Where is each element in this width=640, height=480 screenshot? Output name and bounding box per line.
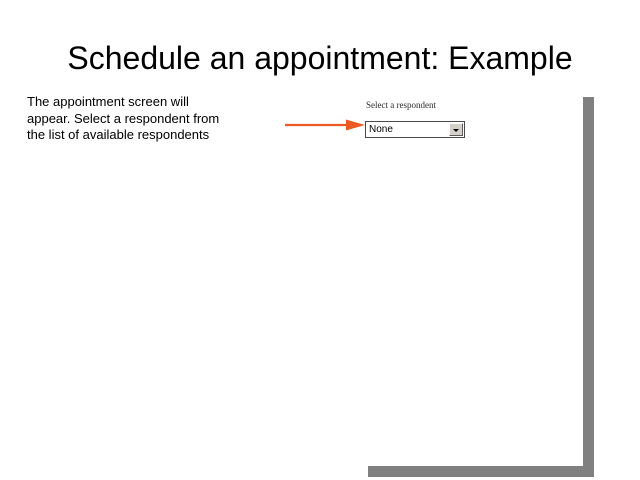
respondent-dropdown-value: None [366,122,449,137]
caption-line: the list of available respondents [27,127,257,144]
annotation-arrow-icon [284,117,366,133]
annotation-arrow-head [346,120,365,131]
caption-line: The appointment screen will [27,94,257,111]
chevron-down-icon[interactable] [449,123,463,136]
embedded-app-screenshot [356,90,583,466]
page-title: Schedule an appointment: Example [0,39,640,77]
respondent-field-label: Select a respondent [366,100,436,111]
caption-line: appear. Select a respondent from [27,111,257,128]
chevron-down-glyph [453,129,459,132]
screenshot-shadow-bottom [368,466,594,477]
respondent-dropdown[interactable]: None [365,121,465,138]
screenshot-shadow-right [583,97,594,476]
slide-canvas: Schedule an appointment: Example The app… [0,0,640,480]
caption-text: The appointment screen will appear. Sele… [27,94,257,144]
